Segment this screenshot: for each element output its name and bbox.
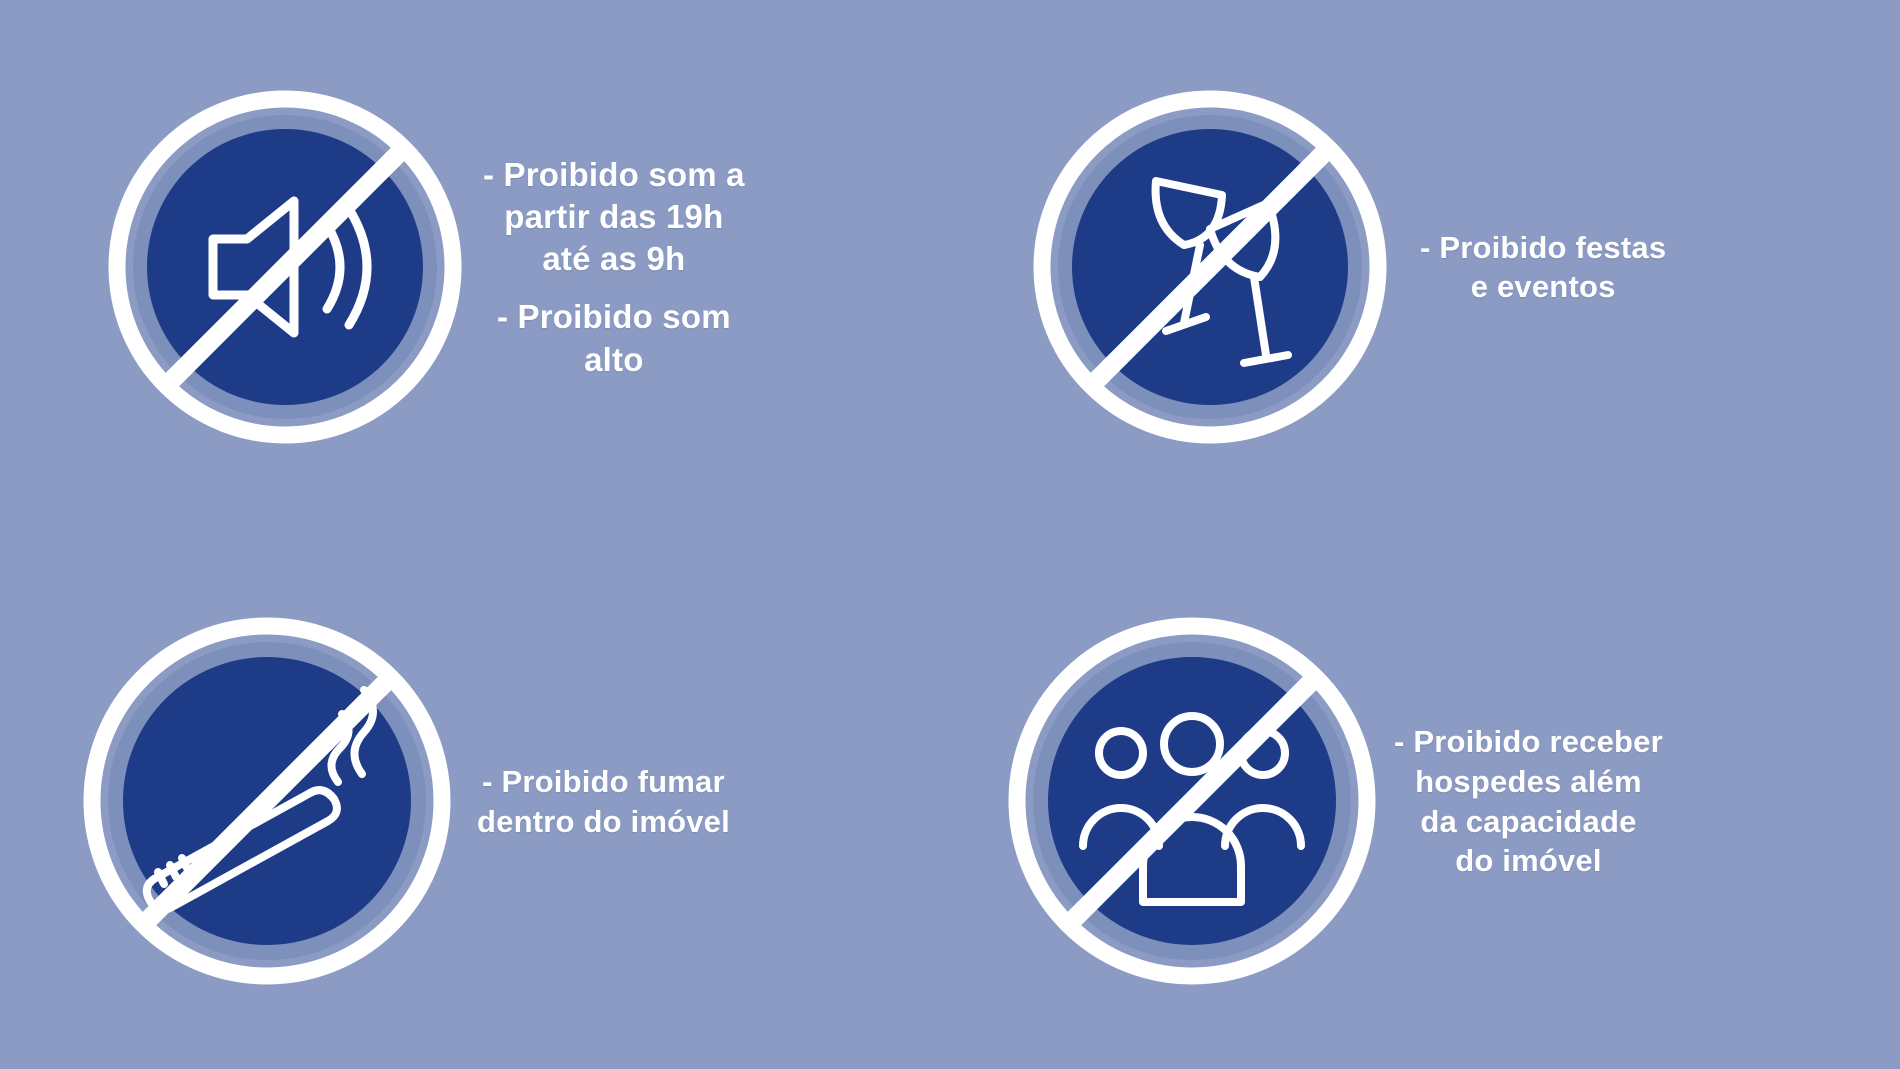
- rule-item-smoking: - Proibido fumar dentro do imóvel: [0, 535, 950, 1069]
- rule-line: da capacidade: [1394, 802, 1663, 842]
- rule-line: hospedes além: [1394, 762, 1663, 802]
- rule-line: - Proibido som a: [483, 154, 745, 196]
- rule-line: - Proibido som: [483, 296, 745, 338]
- rule-label-smoking: - Proibido fumar dentro do imóvel: [477, 762, 730, 841]
- rule-line: alto: [483, 339, 745, 381]
- no-parties-icon: [1030, 87, 1390, 447]
- rule-item-noise: - Proibido som a partir das 19h até as 9…: [0, 0, 950, 535]
- rule-line: do imóvel: [1394, 841, 1663, 881]
- rule-line: partir das 19h: [483, 196, 745, 238]
- rule-item-capacity: - Proibido receber hospedes além da capa…: [950, 535, 1900, 1069]
- no-smoking-icon: [80, 614, 455, 989]
- rule-label-parties: - Proibido festas e eventos: [1420, 228, 1666, 307]
- rule-line: dentro do imóvel: [477, 802, 730, 842]
- rule-label-noise: - Proibido som a partir das 19h até as 9…: [483, 154, 745, 381]
- no-loud-speaker-icon: [105, 87, 465, 447]
- rule-label-capacity: - Proibido receber hospedes além da capa…: [1394, 722, 1663, 881]
- no-extra-guests-icon: [1005, 614, 1380, 989]
- rule-item-parties: - Proibido festas e eventos: [950, 0, 1900, 535]
- rule-line: - Proibido fumar: [477, 762, 730, 802]
- rules-board: - Proibido som a partir das 19h até as 9…: [0, 0, 1900, 1069]
- rule-line: e eventos: [1420, 267, 1666, 307]
- rule-line: - Proibido receber: [1394, 722, 1663, 762]
- rule-line: até as 9h: [483, 238, 745, 280]
- rule-line: - Proibido festas: [1420, 228, 1666, 268]
